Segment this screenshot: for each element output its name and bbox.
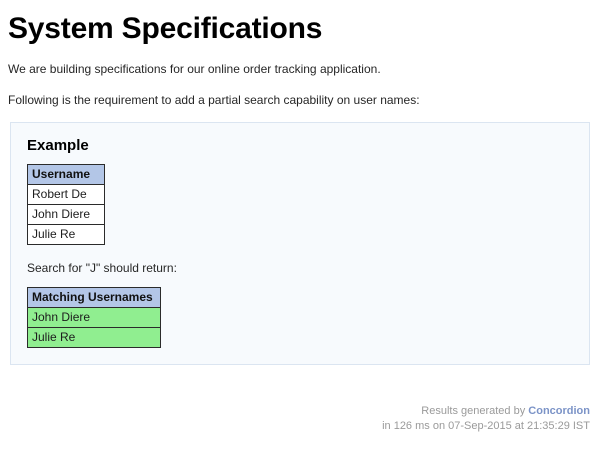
footer-timing-line: in 126 ms on 07-Sep-2015 at 21:35:29 IST xyxy=(382,419,590,434)
table-row: John Diere xyxy=(28,205,105,225)
username-cell: John Diere xyxy=(28,205,105,225)
table-row: Robert De xyxy=(28,185,105,205)
usernames-table: Username Robert De John Diere Julie Re xyxy=(27,164,105,245)
footer-generated-prefix: Results generated by xyxy=(421,405,525,417)
column-header-username: Username xyxy=(28,165,105,185)
page-title: System Specifications xyxy=(8,12,590,46)
intro-paragraph: We are building specifications for our o… xyxy=(8,62,590,77)
specification-page: System Specifications We are building sp… xyxy=(0,0,600,365)
username-cell: Julie Re xyxy=(28,225,105,245)
table-row: Julie Re xyxy=(28,328,161,348)
column-header-matching-usernames: Matching Usernames xyxy=(28,288,161,308)
footer-generated-line: Results generated by Concordion xyxy=(382,404,590,419)
table-row: John Diere xyxy=(28,308,161,328)
username-cell: Robert De xyxy=(28,185,105,205)
search-description: Search for "J" should return: xyxy=(27,261,575,276)
table-header-row: Username xyxy=(28,165,105,185)
table-header-row: Matching Usernames xyxy=(28,288,161,308)
matching-username-cell: John Diere xyxy=(28,308,161,328)
concordion-link[interactable]: Concordion xyxy=(528,405,590,417)
matching-usernames-table: Matching Usernames John Diere Julie Re xyxy=(27,287,161,348)
example-heading: Example xyxy=(27,137,575,155)
footer: Results generated by Concordion in 126 m… xyxy=(382,404,590,434)
example-box: Example Username Robert De John Diere Ju… xyxy=(10,122,590,365)
matching-username-cell: Julie Re xyxy=(28,328,161,348)
table-row: Julie Re xyxy=(28,225,105,245)
requirement-paragraph: Following is the requirement to add a pa… xyxy=(8,93,590,108)
